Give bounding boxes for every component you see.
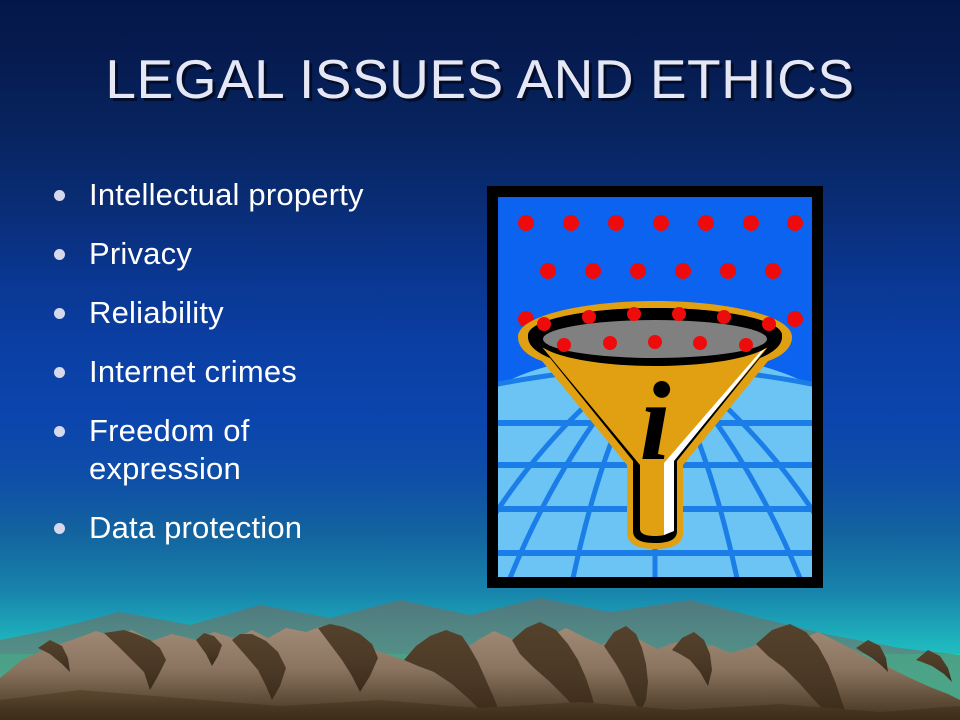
- list-item-label: Intellectual property: [89, 176, 364, 214]
- bullet-list: Intellectual property Privacy Reliabilit…: [44, 176, 464, 568]
- list-item[interactable]: Freedom of expression: [44, 412, 464, 488]
- bullet-dot-icon: [54, 426, 65, 437]
- information-funnel-icon: i: [498, 197, 812, 577]
- clipart-canvas: i: [498, 197, 812, 577]
- list-item-label: Freedom of expression: [89, 412, 329, 488]
- list-item[interactable]: Privacy: [44, 235, 464, 273]
- bullet-dot-icon: [54, 523, 65, 534]
- mountain-dark-shading: [38, 622, 952, 718]
- mountain-far-ridge: [0, 598, 960, 720]
- list-item-label: Data protection: [89, 509, 302, 547]
- page-title: LEGAL ISSUES AND ETHICS: [0, 48, 960, 110]
- bullet-dot-icon: [54, 249, 65, 260]
- mountain-foreground-base: [0, 690, 960, 720]
- list-item-label: Reliability: [89, 294, 224, 332]
- bullet-dot-icon: [54, 308, 65, 319]
- list-item[interactable]: Data protection: [44, 509, 464, 547]
- list-item[interactable]: Reliability: [44, 294, 464, 332]
- funnel-information-letter: i: [639, 360, 670, 484]
- list-item[interactable]: Internet crimes: [44, 353, 464, 391]
- list-item-label: Privacy: [89, 235, 192, 273]
- list-item-label: Internet crimes: [89, 353, 297, 391]
- mountain-light-body: [0, 626, 960, 720]
- teal-horizon-band: [0, 654, 960, 720]
- list-item[interactable]: Intellectual property: [44, 176, 464, 214]
- clipart-frame: i: [487, 186, 823, 588]
- bullet-dot-icon: [54, 190, 65, 201]
- bullet-dot-icon: [54, 367, 65, 378]
- slide: LEGAL ISSUES AND ETHICS Intellectual pro…: [0, 0, 960, 720]
